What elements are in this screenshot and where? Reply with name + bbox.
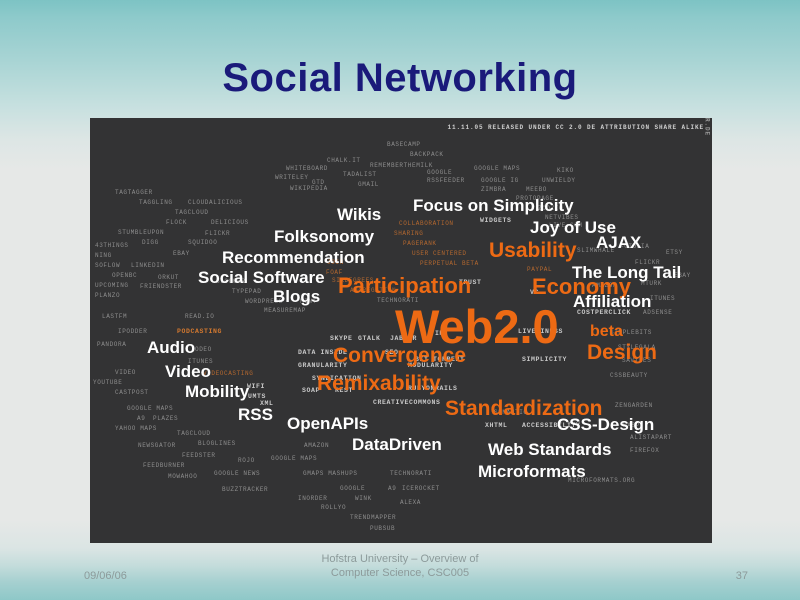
cloud-term-minor: SQUIDOO: [188, 240, 217, 246]
cloud-term-major: OpenAPIs: [287, 415, 368, 432]
cloud-term-major: CSS-Design: [557, 416, 654, 433]
cloud-term-minor: FLICKR: [205, 231, 230, 237]
cloud-term-minor: TAGCLOUD: [175, 210, 209, 216]
cloud-term-minor: GOOGLE MAPS: [271, 456, 317, 462]
cloud-term-minor: A9: [137, 416, 145, 422]
cloud-term-minor: TAGGLING: [139, 200, 173, 206]
cloud-term-major: Audio: [147, 339, 195, 356]
cloud-term-major: Design: [587, 342, 657, 363]
cloud-term-minor: WIKIPEDIA: [290, 186, 328, 192]
cloud-term-minor: TAGCLOUD: [177, 431, 211, 437]
cloud-term-major: Participation: [338, 275, 471, 297]
cloud-term-minor: MOWAHOO: [168, 474, 197, 480]
cloud-term-minor: TYPEPAD: [232, 289, 261, 295]
cloud-author-credit: MARKUS ANGERMEIER @ KOSMAR.DE: [704, 118, 711, 136]
cloud-term-minor: GMAIL: [358, 182, 379, 188]
cloud-term-minor: WIDGETS: [480, 218, 512, 225]
cloud-term-minor: PODCASTING: [177, 329, 222, 336]
cloud-term-minor: PLAZES: [153, 416, 178, 422]
cloud-license-credit: 11.11.05 RELEASED UNDER CC 2.0 DE ATTRIB…: [447, 124, 704, 131]
cloud-term-minor: SOFLOW: [95, 263, 120, 269]
cloud-term-minor: ORKUT: [158, 275, 179, 281]
cloud-term-minor: ROJO: [238, 458, 255, 464]
footer-line-2: Computer Science, CSC005: [0, 566, 800, 580]
cloud-term-minor: FLOCK: [166, 220, 187, 226]
cloud-term-minor: CLOUDALICIOUS: [188, 200, 243, 206]
web20-word-cloud-image: 11.11.05 RELEASED UNDER CC 2.0 DE ATTRIB…: [90, 118, 712, 543]
cloud-term-minor: WHITEBOARD: [286, 166, 328, 172]
cloud-term-minor: YAHOO MAPS: [115, 426, 157, 432]
cloud-term-major: Video: [165, 363, 211, 380]
cloud-term-minor: GOOGLE MAPS: [127, 406, 173, 412]
cloud-term-minor: REMEMBERTHEMILK: [370, 163, 433, 169]
cloud-term-minor: PUBSUB: [370, 526, 395, 532]
cloud-term-major: The Long Tail: [572, 264, 681, 281]
cloud-term-minor: FEEDBURNER: [143, 463, 185, 469]
cloud-term-minor: STUMBLEUPON: [118, 230, 164, 236]
cloud-term-minor: CASTPOST: [115, 390, 149, 396]
cloud-term-minor: GTALK: [358, 336, 381, 343]
cloud-term-minor: CHALK.IT: [327, 158, 361, 164]
cloud-term-minor: TAGTAGGER: [115, 190, 153, 196]
cloud-term-minor: A9: [388, 486, 396, 492]
cloud-term-minor: ODEO: [195, 347, 212, 353]
footer-course-info: Hofstra University – Overview of Compute…: [0, 552, 800, 580]
cloud-term-minor: FEEDSTER: [182, 453, 216, 459]
cloud-term-minor: WINK: [355, 496, 372, 502]
cloud-term-minor: WRITELEY: [275, 175, 309, 181]
cloud-term-major: Mobility: [185, 383, 249, 400]
cloud-term-major: Web2.0: [395, 303, 559, 350]
cloud-term-minor: YOUTUBE: [93, 380, 122, 386]
cloud-term-minor: GMAPS MASHUPS: [303, 471, 358, 477]
cloud-term-minor: EBAY: [173, 251, 190, 257]
cloud-term-minor: DIGG: [142, 240, 159, 246]
cloud-term-minor: FIREFOX: [630, 448, 659, 454]
cloud-term-major: Microformats: [478, 463, 586, 480]
cloud-term-minor: UPCOMING: [95, 283, 129, 289]
cloud-term-minor: GOOGLE MAPS: [474, 166, 520, 172]
page-title: Social Networking: [0, 56, 800, 101]
cloud-term-minor: KIKO: [557, 168, 574, 174]
cloud-term-major: beta: [590, 324, 623, 340]
cloud-term-minor: PAYPAL: [527, 267, 552, 273]
cloud-term-minor: MEASUREMAP: [264, 308, 306, 314]
cloud-term-minor: OPENBC: [112, 273, 137, 279]
cloud-term-minor: ALEXA: [400, 500, 421, 506]
cloud-term-minor: XHTML: [485, 423, 508, 430]
cloud-term-minor: ROLLYO: [321, 505, 346, 511]
cloud-term-minor: GOOGLE IG: [481, 178, 519, 184]
cloud-term-minor: SIMPLICITY: [522, 357, 567, 364]
cloud-term-minor: COLLABORATION: [399, 221, 454, 227]
cloud-term-minor: IPODDER: [118, 329, 147, 335]
cloud-term-minor: LINKEDIN: [131, 263, 165, 269]
cloud-term-minor: UNWIELDY: [542, 178, 576, 184]
cloud-term-minor: ICEROCKET: [402, 486, 440, 492]
cloud-term-minor: ZIMBRA: [481, 187, 506, 193]
cloud-term-minor: TECHNORATI: [390, 471, 432, 477]
cloud-term-minor: LASTFM: [102, 314, 127, 320]
cloud-term-minor: DELICIOUS: [211, 220, 249, 226]
cloud-term-major: Social Software: [198, 269, 325, 286]
cloud-term-major: Folksonomy: [274, 228, 374, 245]
cloud-term-major: Usability: [489, 240, 577, 261]
cloud-term-minor: BUZZTRACKER: [222, 487, 268, 493]
cloud-term-minor: USER CENTERED: [412, 251, 467, 257]
cloud-term-minor: PERPETUAL BETA: [420, 261, 479, 267]
cloud-term-minor: NEWSGATOR: [138, 443, 176, 449]
cloud-term-minor: BLOGLINES: [198, 441, 236, 447]
cloud-term-major: Recommendation: [222, 249, 365, 266]
cloud-term-minor: GOOGLE NEWS: [214, 471, 260, 477]
cloud-term-minor: TRENDMAPPER: [350, 515, 396, 521]
cloud-term-minor: ALISTAPART: [630, 435, 672, 441]
cloud-term-major: Blogs: [273, 288, 320, 305]
cloud-term-minor: SHARING: [394, 231, 423, 237]
cloud-term-minor: PANDORA: [97, 342, 126, 348]
cloud-term-minor: INORDER: [298, 496, 327, 502]
cloud-term-minor: GOOGLE: [427, 170, 452, 176]
cloud-term-major: Focus on Simplicity: [413, 197, 574, 214]
cloud-term-minor: CREATIVECOMMONS: [373, 400, 441, 407]
cloud-term-minor: BACKPACK: [410, 152, 444, 158]
cloud-term-minor: RSSFEEDER: [427, 178, 465, 184]
cloud-term-minor: 43THINGS: [95, 243, 129, 249]
cloud-term-major: Web Standards: [488, 441, 611, 458]
cloud-term-minor: CSSBEAUTY: [610, 373, 648, 379]
cloud-term-major: Affiliation: [573, 293, 651, 310]
cloud-term-minor: TADALIST: [343, 172, 377, 178]
cloud-term-major: DataDriven: [352, 436, 442, 453]
cloud-term-minor: MEEBO: [526, 187, 547, 193]
cloud-term-minor: FRIENDSTER: [140, 284, 182, 290]
cloud-term-major: Wikis: [337, 206, 381, 223]
slide: Social Networking 11.11.05 RELEASED UNDE…: [0, 0, 800, 600]
cloud-term-minor: PLANZO: [95, 293, 120, 299]
cloud-term-major: AJAX: [596, 234, 641, 251]
cloud-term-minor: WIFI: [247, 384, 265, 391]
cloud-term-minor: AMAZON: [304, 443, 329, 449]
cloud-term-minor: VIDEO: [115, 370, 136, 376]
slide-footer: 09/06/06 Hofstra University – Overview o…: [0, 552, 800, 592]
footer-line-1: Hofstra University – Overview of: [0, 552, 800, 566]
cloud-term-major: Convergence: [333, 345, 466, 366]
cloud-term-minor: ZENGARDEN: [615, 403, 653, 409]
cloud-term-major: RSS: [238, 406, 273, 423]
cloud-term-minor: BASECAMP: [387, 142, 421, 148]
cloud-term-minor: SKYPE: [330, 336, 353, 343]
cloud-term-minor: ETSY: [666, 250, 683, 256]
cloud-term-major: Remixability: [317, 373, 441, 394]
cloud-term-minor: NING: [95, 253, 112, 259]
cloud-term-minor: PAGERANK: [403, 241, 437, 247]
cloud-term-minor: READ.IO: [185, 314, 214, 320]
cloud-term-minor: GOOGLE: [340, 486, 365, 492]
footer-page-number: 37: [736, 570, 748, 582]
cloud-term-minor: ITUNES: [650, 296, 675, 302]
